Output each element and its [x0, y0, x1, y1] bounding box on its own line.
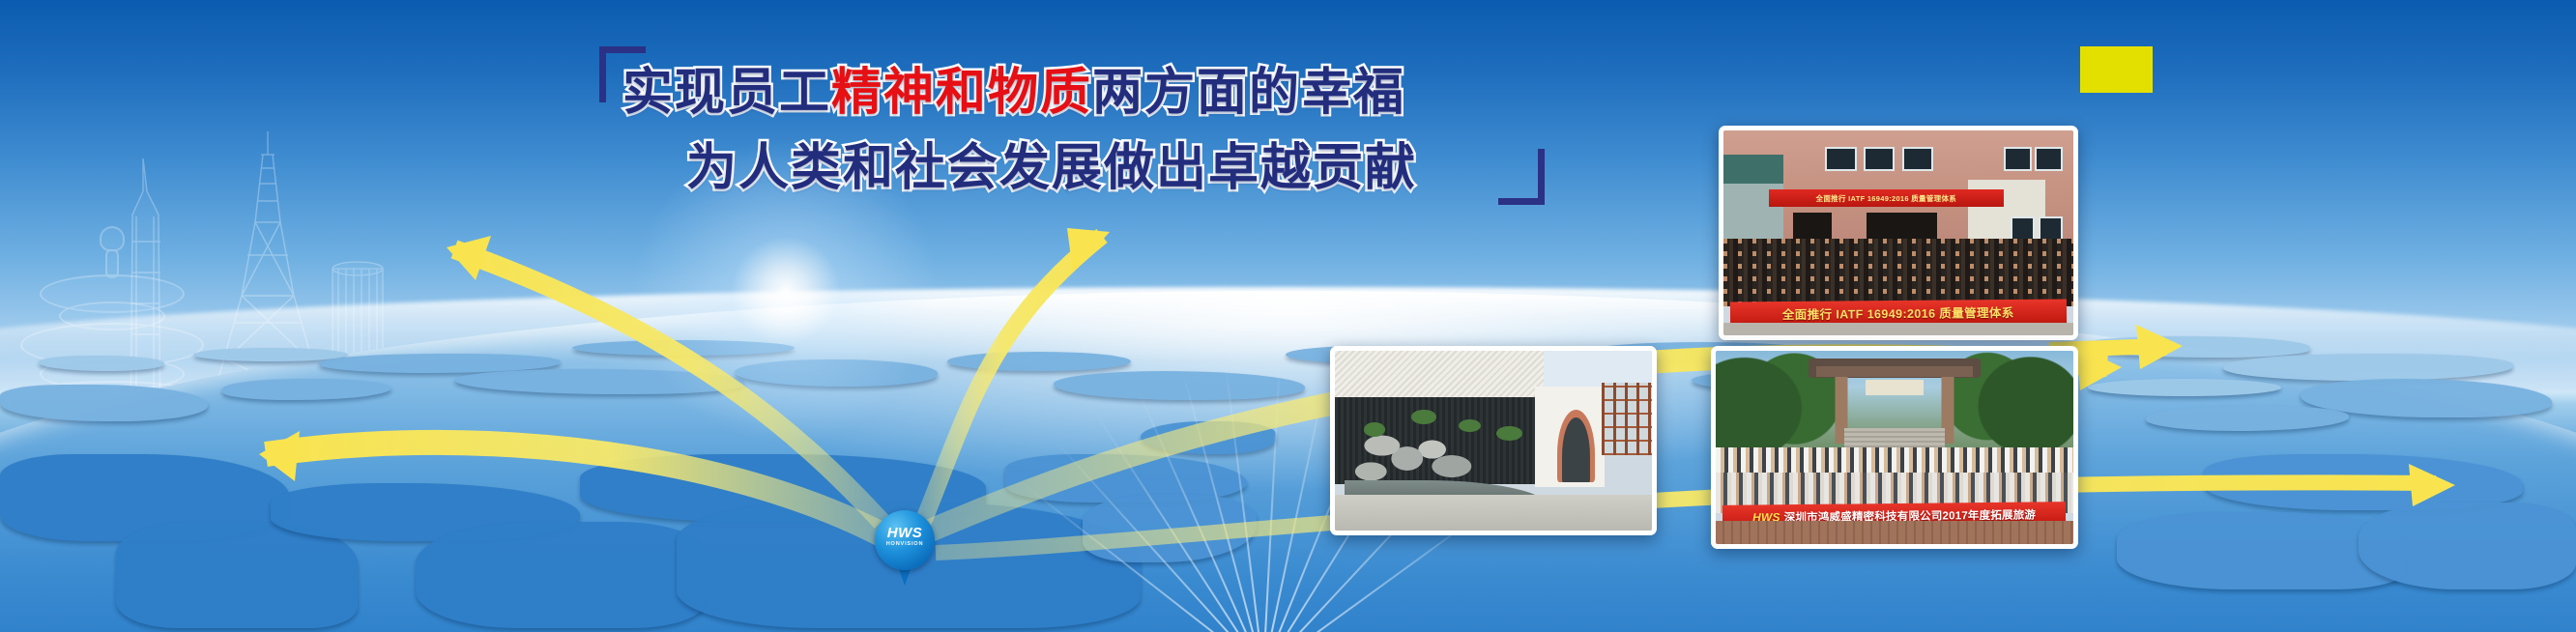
wall-plant	[1459, 419, 1481, 432]
company-location-pin: HWS HONVISION	[875, 510, 935, 586]
window	[2004, 147, 2032, 171]
slogan-line1-post: 两方面的幸福	[1092, 64, 1405, 122]
slogan-line-2: 为人类和社会发展做出卓越贡献	[686, 143, 1417, 193]
employee-crowd	[1723, 239, 2073, 306]
window	[2035, 147, 2063, 171]
factory-team-photo[interactable]: 全面推行 IATF 16949:2016 质量管理体系 全面推行 IATF 16…	[1719, 126, 2078, 340]
brick-pavement	[1716, 521, 2073, 544]
brand-mark: HWS	[875, 526, 935, 540]
moon-gate-opening	[1562, 417, 1590, 482]
corner-bracket-bottom-right-icon	[1498, 149, 1545, 205]
window	[1902, 147, 1934, 171]
window	[1864, 147, 1896, 171]
iso-banner-top: 全面推行 IATF 16949:2016 质量管理体系	[1769, 189, 2004, 207]
wooden-pergola	[1602, 383, 1652, 454]
slogan-line1-highlight: 精神和物质	[831, 64, 1092, 122]
textured-upper-wall	[1335, 351, 1544, 401]
slogan-block: 实现员工精神和物质两方面的幸福 为人类和社会发展做出卓越贡献	[599, 46, 1605, 220]
yellow-accent-block	[2080, 46, 2153, 93]
wall-plant	[1496, 426, 1521, 441]
brand-logo: HWS HONVISION	[875, 526, 935, 548]
slogan-line-1: 实现员工精神和物质两方面的幸福	[622, 68, 1405, 118]
company-culture-banner: HWS HONVISION 实现员工精神和物质两方面的幸福 为人类和社会发展做出…	[0, 0, 2576, 632]
window	[2039, 216, 2063, 241]
archway-plaque	[1866, 380, 1923, 395]
window	[1825, 147, 1857, 171]
slogan-line1-pre: 实现员工	[622, 64, 831, 122]
ground	[1723, 323, 2073, 335]
roof-eave	[1723, 155, 1783, 186]
paved-floor	[1335, 495, 1652, 531]
window	[2011, 216, 2035, 241]
company-courtyard-garden-photo[interactable]	[1330, 346, 1657, 535]
company-outing-team-photo[interactable]: HWS深圳市鸿威盛精密科技有限公司2017年度拓展旅游	[1711, 346, 2078, 549]
brand-name: HONVISION	[875, 542, 935, 548]
